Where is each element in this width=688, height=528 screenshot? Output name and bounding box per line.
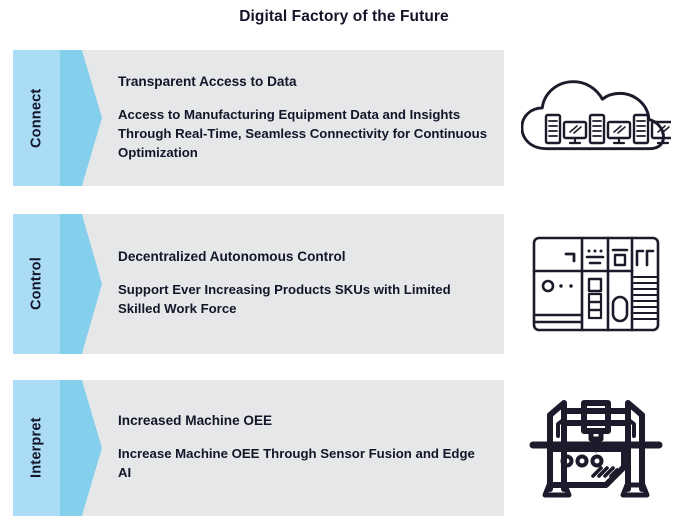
stage-label: Connect: [13, 50, 60, 186]
cnc-machine-icon: [518, 380, 673, 516]
stage-text: Increased Machine OEE Increase Machine O…: [118, 380, 498, 516]
stage-text: Decentralized Autonomous Control Support…: [118, 214, 498, 354]
stage-heading: Increased Machine OEE: [118, 413, 498, 430]
stage-body: Increase Machine OEE Through Sensor Fusi…: [118, 444, 490, 482]
stage-row-control: Control Decentralized Autonomous Control…: [13, 214, 673, 354]
stage-text: Transparent Access to Data Access to Man…: [118, 50, 498, 186]
stage-label: Control: [13, 214, 60, 354]
stage-body: Access to Manufacturing Equipment Data a…: [118, 105, 490, 162]
stage-row-connect: Connect Transparent Access to Data Acces…: [13, 50, 673, 186]
page-title: Digital Factory of the Future: [0, 8, 688, 26]
control-cabinet-icon: [518, 214, 673, 354]
stage-heading: Transparent Access to Data: [118, 74, 498, 91]
stage-label: Interpret: [13, 380, 60, 516]
stage-heading: Decentralized Autonomous Control: [118, 249, 498, 266]
stage-row-interpret: Interpret Increased Machine OEE Increase…: [13, 380, 673, 516]
stage-body: Support Ever Increasing Products SKUs wi…: [118, 280, 490, 318]
cloud-servers-icon: [518, 50, 673, 186]
